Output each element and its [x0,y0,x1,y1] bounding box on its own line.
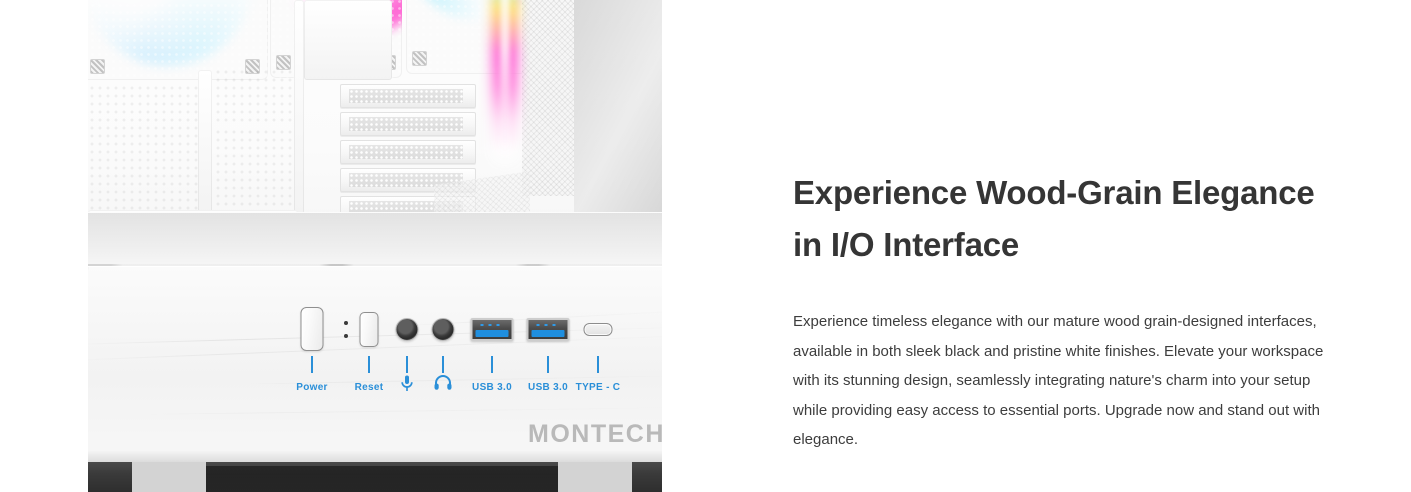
label-usb-1: USB 3.0 [472,382,512,393]
callout-tick [311,356,313,373]
feature-text-pane: Experience Wood-Grain Elegance in I/O In… [793,0,1411,492]
usb-port-2[interactable] [527,306,570,352]
callout-tick [368,356,370,373]
rgb-light-core-icon [500,0,510,152]
usb-c-icon [584,323,613,336]
led-group [344,321,348,338]
audio-jack-icon [432,318,455,341]
mic-jack[interactable] [396,306,419,352]
brand-logo: MONTECH [528,420,662,449]
usb-a-icon [527,318,570,341]
microphone-icon [400,375,414,396]
label-power: Power [296,382,328,393]
perforated-vent [214,128,300,214]
label-reset: Reset [355,382,384,393]
pcie-slot-cover [340,112,476,136]
usb-port-1[interactable] [471,306,514,352]
screw-icon [412,51,427,66]
label-type-c: TYPE - C [576,382,621,393]
case-panel [198,70,212,214]
reset-button-icon [360,312,379,347]
marble-vein [128,407,662,415]
perforated-vent [88,84,208,212]
callout-tick [406,356,408,373]
text-block: Experience Wood-Grain Elegance in I/O In… [793,0,1353,492]
feature-description: Experience timeless elegance with our ma… [793,307,1338,455]
label-usb-2: USB 3.0 [528,382,568,393]
pc-case-photo: Power Reset USB 3.0 USB 3.0 T [88,0,662,492]
screw-icon [90,59,105,74]
foot-gap [558,462,632,492]
callout-tick [597,356,599,373]
case-divider [294,0,304,214]
headphone-icon [434,375,452,394]
pcie-slot-cover [340,84,476,108]
usb-c-port[interactable] [584,306,613,352]
callout-tick [547,356,549,373]
headphone-jack[interactable] [432,306,455,352]
product-feature-section: Power Reset USB 3.0 USB 3.0 T [0,0,1411,492]
callout-tick [442,356,444,373]
foot-gap [132,462,206,492]
feature-headline: Experience Wood-Grain Elegance in I/O In… [793,167,1338,271]
led-icon [344,321,348,325]
case-under-shadow [148,466,608,492]
case-base-shelf [88,452,662,462]
mesh-vent-panel [522,0,574,196]
power-button-icon [301,307,324,351]
product-image-pane: Power Reset USB 3.0 USB 3.0 T [0,0,793,492]
led-icon [344,334,348,338]
io-port-row [88,306,662,352]
chassis-top-lip [88,212,662,268]
audio-jack-icon [396,318,419,341]
usb-a-icon [471,318,514,341]
case-panel [304,0,392,80]
pcie-slot-cover [340,140,476,164]
callout-tick [491,356,493,373]
reset-button[interactable] [360,306,379,352]
power-button[interactable] [301,306,324,352]
perforated-vent [214,68,300,124]
led-indicators [344,306,348,352]
